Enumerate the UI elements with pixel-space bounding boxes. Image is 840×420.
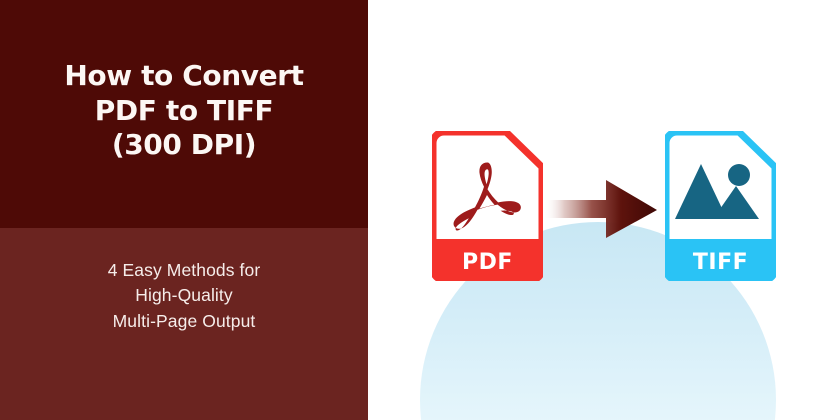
right-arrow-icon xyxy=(544,180,657,238)
tiff-file-card: TIFF xyxy=(665,131,776,281)
conversion-arrow xyxy=(544,178,657,240)
pdf-label-text: PDF xyxy=(462,250,513,275)
tiff-label-text: TIFF xyxy=(693,250,748,275)
title-line-1: How to Convert xyxy=(64,59,303,94)
banner-root: How to Convert PDF to TIFF (300 DPI) 4 E… xyxy=(0,0,840,420)
page-subtitle: 4 Easy Methods for High-Quality Multi-Pa… xyxy=(0,228,368,420)
page-title: How to Convert PDF to TIFF (300 DPI) xyxy=(0,0,368,228)
subtitle-line-2: High-Quality xyxy=(135,283,232,308)
title-line-2: PDF to TIFF xyxy=(95,94,273,129)
illustration-stage: PDF xyxy=(368,0,840,420)
left-text-panel: How to Convert PDF to TIFF (300 DPI) 4 E… xyxy=(0,0,368,420)
subtitle-line-3: Multi-Page Output xyxy=(113,309,256,334)
pdf-file-card: PDF xyxy=(432,131,543,281)
title-line-3: (300 DPI) xyxy=(112,128,256,163)
subtitle-line-1: 4 Easy Methods for xyxy=(108,258,261,283)
